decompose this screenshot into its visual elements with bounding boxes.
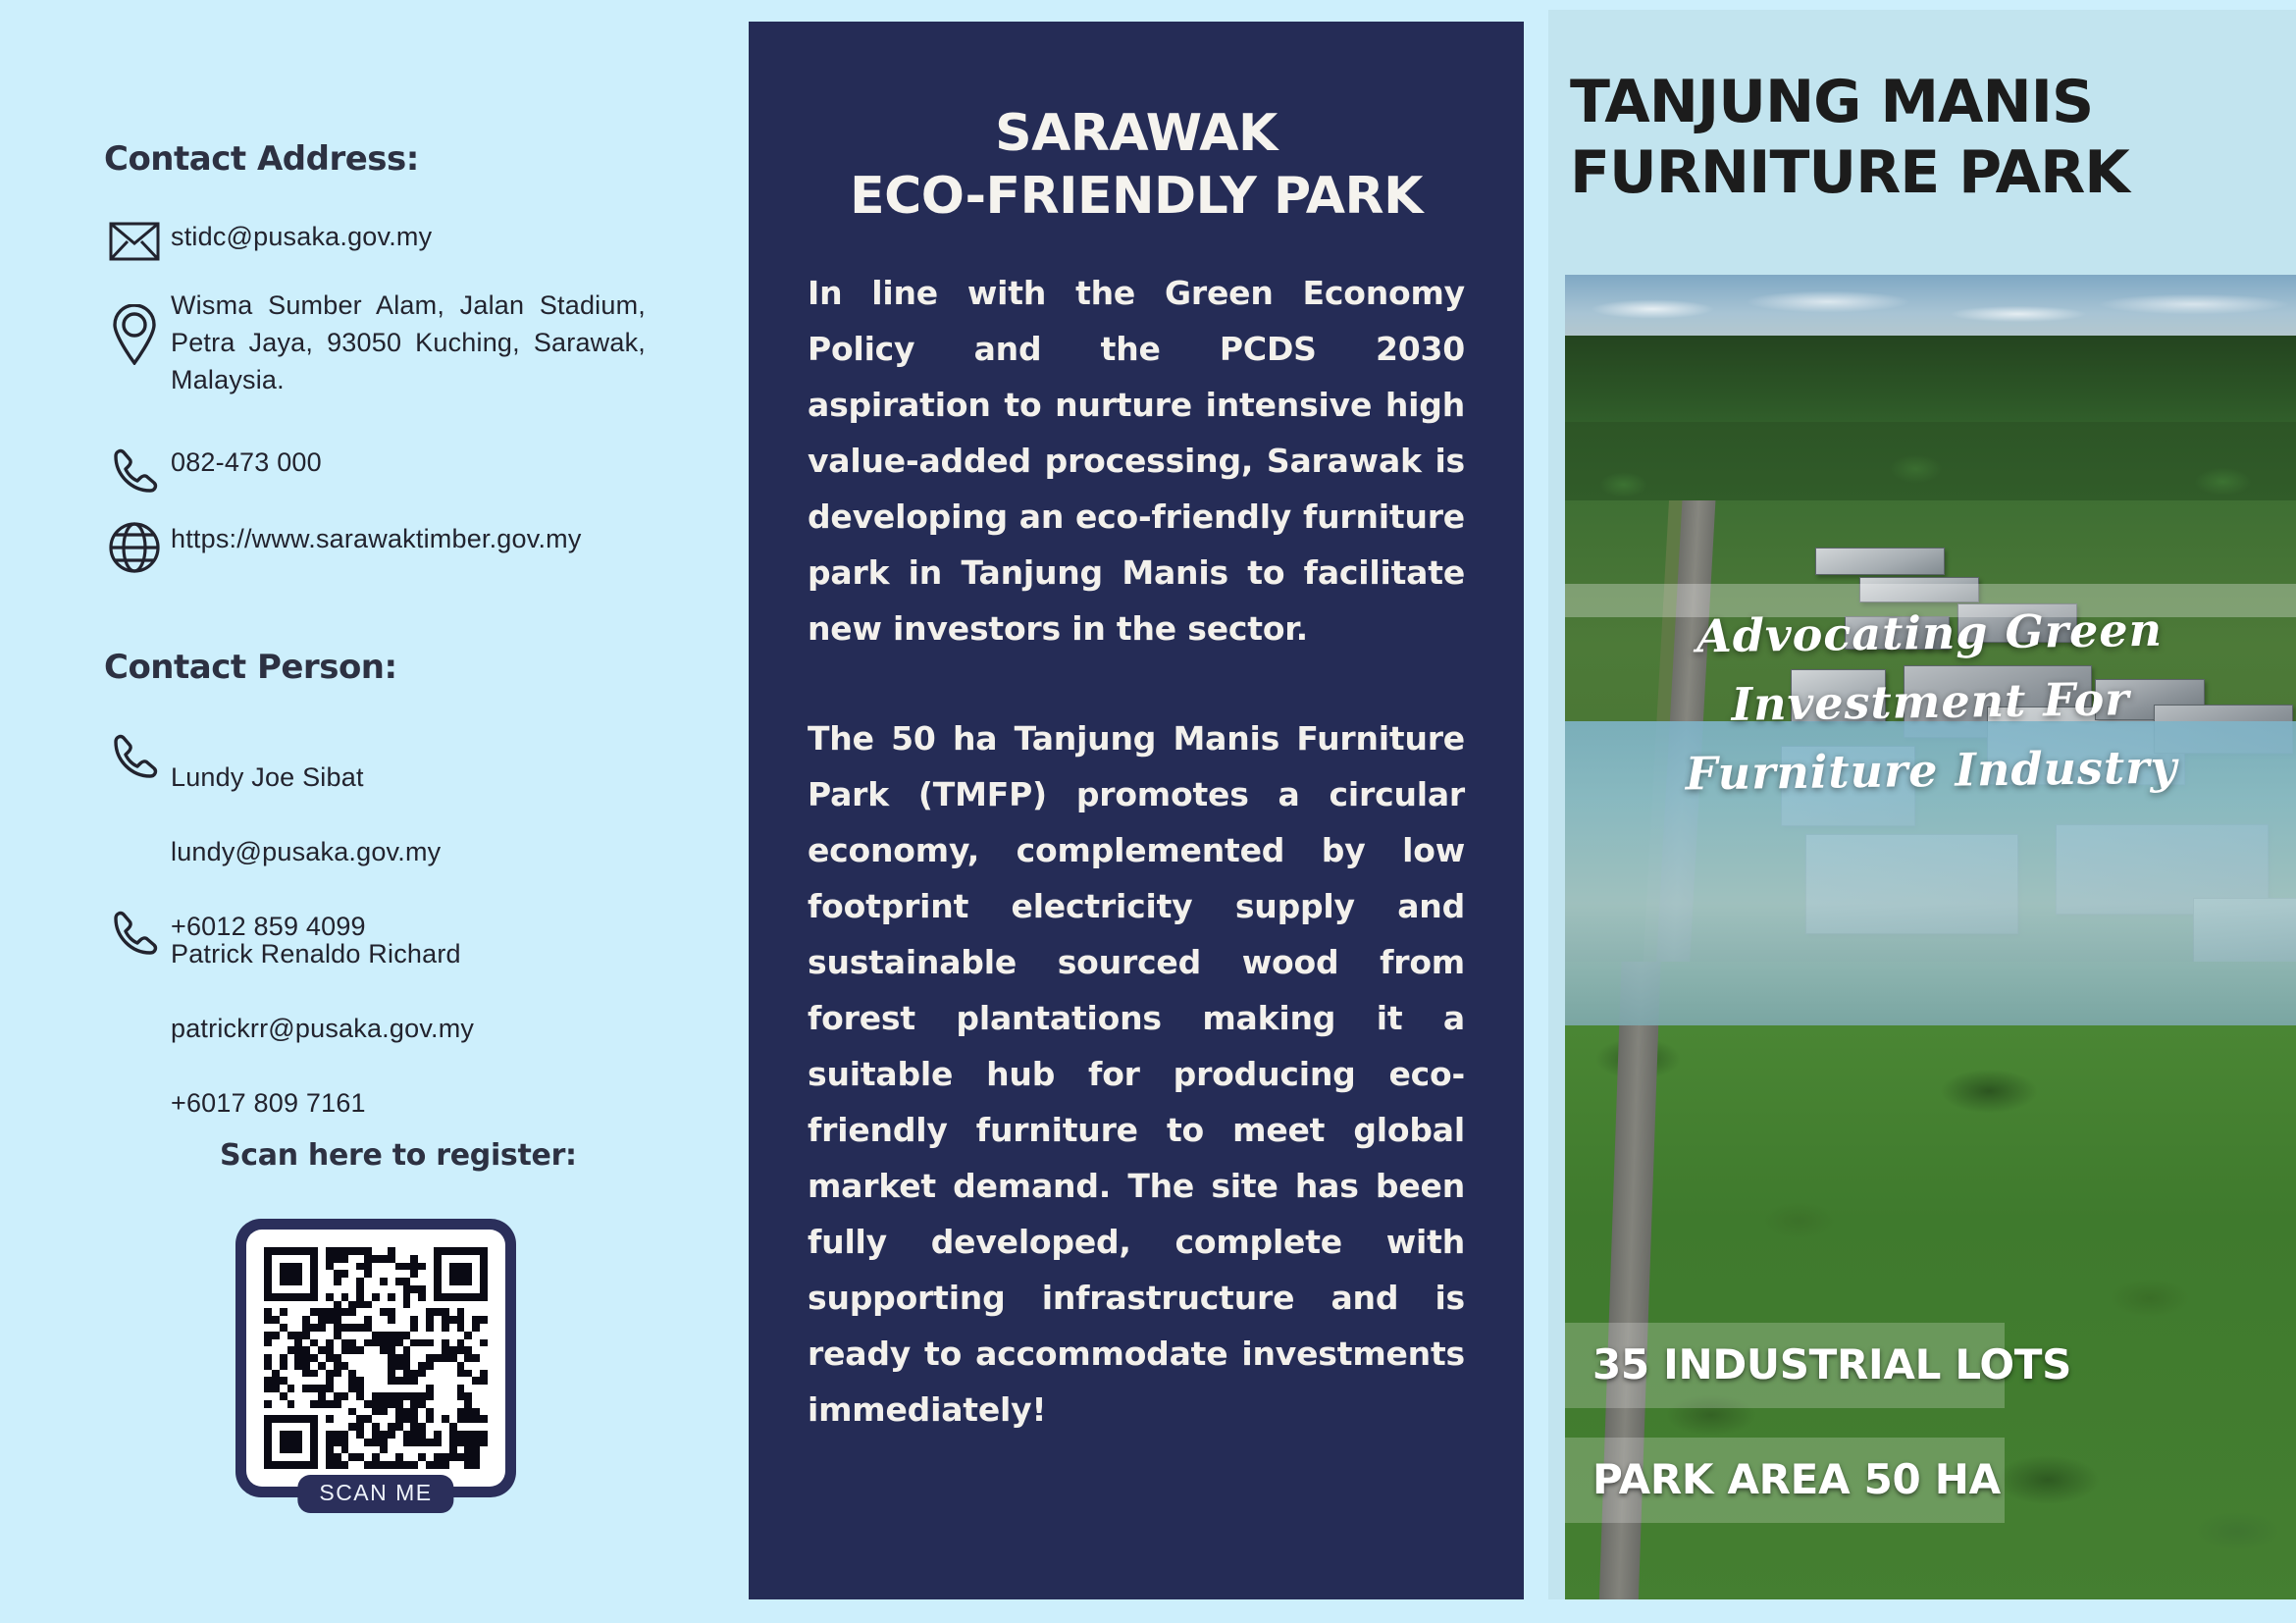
contact-row-website[interactable]: https://www.sarawaktimber.gov.my (98, 520, 582, 573)
contact-website-text: https://www.sarawaktimber.gov.my (171, 520, 582, 557)
phone-icon (98, 721, 171, 782)
mid-panel-paragraph-1: In line with the Green Economy Policy an… (808, 265, 1465, 656)
contact-address-heading: Contact Address: (104, 139, 419, 179)
contact-phone-text: 082-473 000 (171, 444, 322, 481)
photo-caption-script: Advocating Green Investment For Furnitur… (1565, 594, 2296, 810)
phone-icon (98, 444, 171, 497)
phone-icon (98, 898, 171, 959)
contact-email-text: stidc@pusaka.gov.my (171, 218, 432, 255)
mid-panel-title: SARAWAK ECO-FRIENDLY PARK (808, 22, 1465, 228)
right-panel-title: TANJUNG MANIS FURNITURE PARK (1548, 10, 2296, 208)
contact-row-email[interactable]: stidc@pusaka.gov.my (98, 218, 432, 261)
qr-code-card[interactable]: SCAN ME (235, 1219, 516, 1497)
contact-person-2-name: Patrick Renaldo Richard (171, 939, 461, 969)
contact-person-heading: Contact Person: (104, 648, 397, 687)
contact-row-address: Wisma Sumber Alam, Jalan Stadium, Petra … (98, 287, 646, 398)
right-hero-panel: TANJUNG MANIS FURNITURE PARK (1548, 10, 2296, 1599)
photo-clouds (1565, 285, 2296, 334)
tag-park-area: PARK AREA 50 HA (1565, 1438, 2005, 1523)
qr-code-matrix (264, 1247, 488, 1469)
location-pin-icon (98, 287, 171, 365)
mid-panel-paragraph-2: The 50 ha Tanjung Manis Furniture Park (… (808, 710, 1465, 1438)
contact-person-2-email: patrickrr@pusaka.gov.my (171, 1014, 474, 1043)
photo-building (1815, 548, 1945, 575)
contact-row-phone[interactable]: 082-473 000 (98, 444, 322, 497)
scan-here-label: Scan here to register: (220, 1138, 577, 1173)
contact-person-2[interactable]: Patrick Renaldo Richard patrickrr@pusaka… (98, 898, 474, 1122)
mid-description-panel: SARAWAK ECO-FRIENDLY PARK In line with t… (749, 22, 1524, 1599)
tag-industrial-lots: 35 INDUSTRIAL LOTS (1565, 1323, 2005, 1408)
aerial-park-photo: Advocating Green Investment For Furnitur… (1565, 275, 2296, 1599)
brochure-page: Contact Address: stidc@pusaka.gov.my Wis… (0, 0, 2296, 1623)
contact-person-2-phone: +6017 809 7161 (171, 1088, 366, 1118)
contact-person-1-email: lundy@pusaka.gov.my (171, 837, 441, 866)
contact-person-2-details: Patrick Renaldo Richard patrickrr@pusaka… (171, 898, 474, 1122)
globe-icon (98, 520, 171, 573)
left-contact-panel: Contact Address: stidc@pusaka.gov.my Wis… (0, 0, 749, 1623)
contact-person-1-name: Lundy Joe Sibat (171, 762, 364, 792)
qr-code-image[interactable] (246, 1230, 505, 1487)
envelope-icon (98, 218, 171, 261)
contact-address-text: Wisma Sumber Alam, Jalan Stadium, Petra … (171, 287, 646, 398)
photo-far-forest (1565, 336, 2296, 434)
scan-me-badge: SCAN ME (297, 1475, 453, 1513)
